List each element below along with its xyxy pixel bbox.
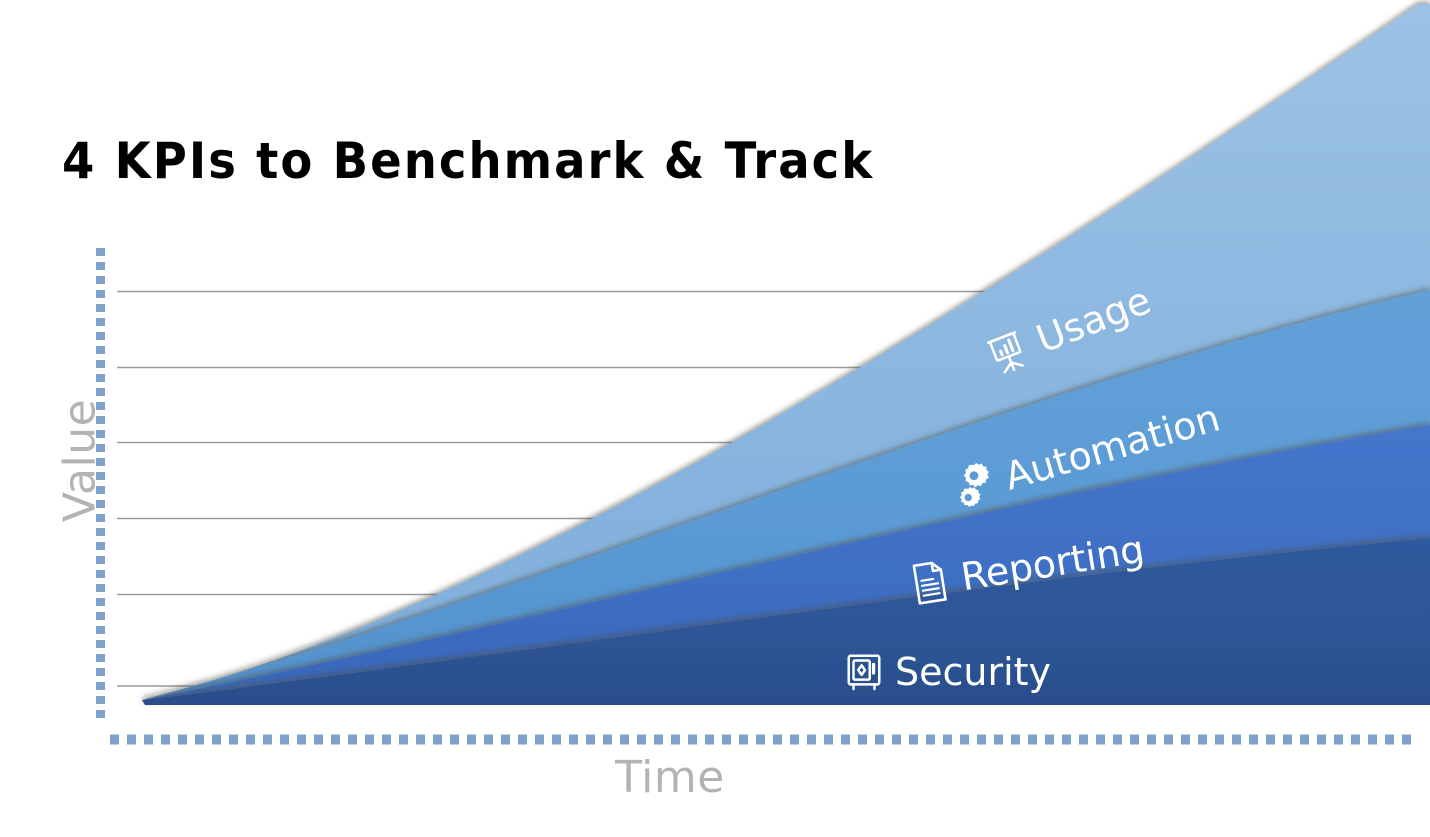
band-label-text: Security [895, 653, 1051, 691]
y-axis-title: Value [55, 371, 106, 551]
band-label-security[interactable]: Security [843, 650, 1051, 694]
document-icon [904, 555, 955, 609]
x-axis-title: Time [520, 752, 820, 803]
slide-canvas: 4 KPIs to Benchmark & Track Value Time U… [0, 0, 1430, 837]
safe-icon [843, 650, 885, 694]
page-title: 4 KPIs to Benchmark & Track [62, 132, 874, 190]
